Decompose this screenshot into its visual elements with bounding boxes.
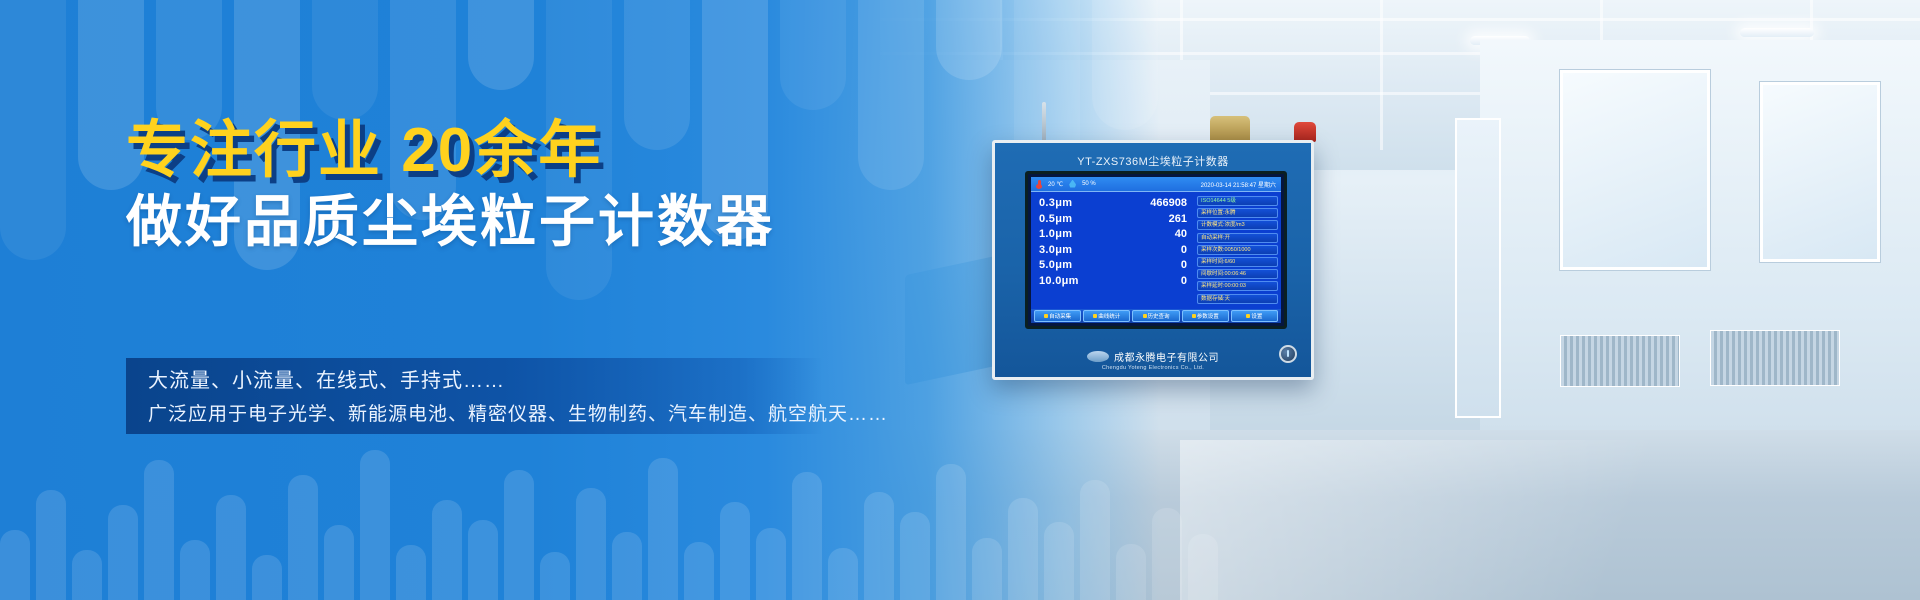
list-item: 采样位置:永腾: [1197, 208, 1278, 218]
button-history-query[interactable]: 历史查询: [1132, 310, 1179, 322]
button-label: 参数设置: [1197, 312, 1219, 320]
humidity-value: 50 %: [1082, 181, 1096, 187]
ceiling-lamp-2: [1740, 28, 1814, 37]
cleanroom-door: [1455, 118, 1501, 418]
brand-name-cn: 成都永腾电子有限公司: [1114, 349, 1219, 364]
alarm-beacon: [1294, 122, 1316, 142]
wall-vent-1: [1560, 335, 1680, 387]
lcd-inner: 20 ℃ 50 % 2020-03-14 21:58:47 星期六 0.3μm …: [1031, 177, 1281, 323]
particle-size: 10.0μm: [1039, 275, 1079, 287]
table-row: 10.0μm 0: [1039, 275, 1191, 287]
yoteng-logo-icon: [1087, 351, 1109, 362]
banner-stage: 专注行业 20余年 做好品质尘埃粒子计数器 大流量、小流量、在线式、手持式…… …: [0, 0, 1920, 600]
particle-count: 40: [1175, 228, 1191, 240]
table-row: 0.3μm 466908: [1039, 197, 1191, 209]
device-body: YT-ZXS736M尘埃粒子计数器 20 ℃ 50 % 2020-03-14 2…: [992, 140, 1314, 380]
list-item: 数据存储:天: [1197, 294, 1278, 304]
list-item: 计数模式:浓度/m3: [1197, 220, 1278, 230]
button-parameter-settings[interactable]: 参数设置: [1182, 310, 1229, 322]
humidity-drop-icon: [1069, 180, 1076, 189]
particle-size: 0.5μm: [1039, 213, 1072, 225]
particle-counter-device: YT-ZXS736M尘埃粒子计数器 20 ℃ 50 % 2020-03-14 2…: [992, 140, 1314, 380]
headline-primary: 专注行业 20余年: [126, 118, 886, 183]
cleanroom-window-1: [1560, 70, 1710, 270]
lcd-status-bar: 20 ℃ 50 % 2020-03-14 21:58:47 星期六: [1031, 177, 1281, 192]
table-row: 3.0μm 0: [1039, 244, 1191, 256]
chart-icon: [1093, 314, 1097, 318]
device-branding: 成都永腾电子有限公司 Chengdu Yoteng Electronics Co…: [995, 349, 1311, 371]
table-row: 5.0μm 0: [1039, 259, 1191, 271]
floor-reflection: [1180, 440, 1920, 600]
brand-line: 成都永腾电子有限公司: [995, 349, 1311, 364]
sliders-icon: [1192, 314, 1196, 318]
particle-count: 0: [1181, 259, 1191, 271]
lcd-screen[interactable]: 20 ℃ 50 % 2020-03-14 21:58:47 星期六 0.3μm …: [1025, 171, 1287, 329]
list-item: 自动采样:开: [1197, 233, 1278, 243]
table-row: 1.0μm 40: [1039, 228, 1191, 240]
sub-text-box: 大流量、小流量、在线式、手持式…… 广泛应用于电子光学、新能源电池、精密仪器、生…: [126, 358, 823, 434]
power-icon: [1287, 350, 1289, 357]
list-item: 间歇时间:00:06:46: [1197, 269, 1278, 279]
button-label: 设置: [1251, 312, 1262, 320]
button-label: 曲线统计: [1098, 312, 1120, 320]
button-auto-sample[interactable]: 自动采集: [1034, 310, 1081, 322]
table-row: 0.5μm 261: [1039, 213, 1191, 225]
headline-block: 专注行业 20余年 做好品质尘埃粒子计数器: [126, 118, 886, 253]
particle-size: 0.3μm: [1039, 197, 1072, 209]
temperature-value: 20 ℃: [1048, 181, 1063, 188]
particle-count: 466908: [1150, 197, 1191, 209]
list-item: 采样次数:0050/1000: [1197, 245, 1278, 255]
device-model-title: YT-ZXS736M尘埃粒子计数器: [995, 153, 1311, 169]
sample-inlet-knob: [1210, 116, 1250, 142]
button-label: 历史查询: [1148, 312, 1170, 320]
sub-line-2: 广泛应用于电子光学、新能源电池、精密仪器、生物制药、汽车制造、航空航天……: [148, 398, 823, 432]
particle-size: 5.0μm: [1039, 259, 1072, 271]
datetime-value: 2020-03-14 21:58:47 星期六: [1201, 180, 1276, 189]
settings-panel: ISO14644 5级 采样位置:永腾 计数模式:浓度/m3 自动采样:开 采样…: [1195, 192, 1281, 309]
particle-count: 0: [1181, 275, 1191, 287]
thermometer-icon: [1036, 180, 1042, 189]
particle-count: 0: [1181, 244, 1191, 256]
particle-table: 0.3μm 466908 0.5μm 261 1.0μm 40: [1031, 192, 1195, 309]
lcd-button-bar: 自动采集 曲线统计 历史查询 参数设置: [1031, 309, 1281, 323]
sub-line-1: 大流量、小流量、在线式、手持式……: [148, 364, 823, 398]
history-icon: [1143, 314, 1147, 318]
headline-secondary: 做好品质尘埃粒子计数器: [126, 191, 886, 253]
button-label: 自动采集: [1049, 312, 1071, 320]
lcd-main: 0.3μm 466908 0.5μm 261 1.0μm 40: [1031, 192, 1281, 309]
particle-count: 261: [1169, 213, 1191, 225]
gear-icon: [1246, 314, 1250, 318]
power-button[interactable]: [1279, 345, 1297, 363]
equalizer-strip: [0, 430, 1240, 600]
particle-size: 3.0μm: [1039, 244, 1072, 256]
particle-size: 1.0μm: [1039, 228, 1072, 240]
wall-vent-2: [1710, 330, 1840, 386]
list-item: ISO14644 5级: [1197, 196, 1278, 206]
play-icon: [1044, 314, 1048, 318]
antenna: [1042, 102, 1046, 142]
button-curve-stats[interactable]: 曲线统计: [1083, 310, 1130, 322]
brand-name-en: Chengdu Yoteng Electronics Co., Ltd.: [995, 365, 1311, 371]
cleanroom-window-2: [1760, 82, 1880, 262]
button-settings[interactable]: 设置: [1231, 310, 1278, 322]
list-item: 采样时间:6/60: [1197, 257, 1278, 267]
list-item: 采样延时:00:00:03: [1197, 281, 1278, 291]
